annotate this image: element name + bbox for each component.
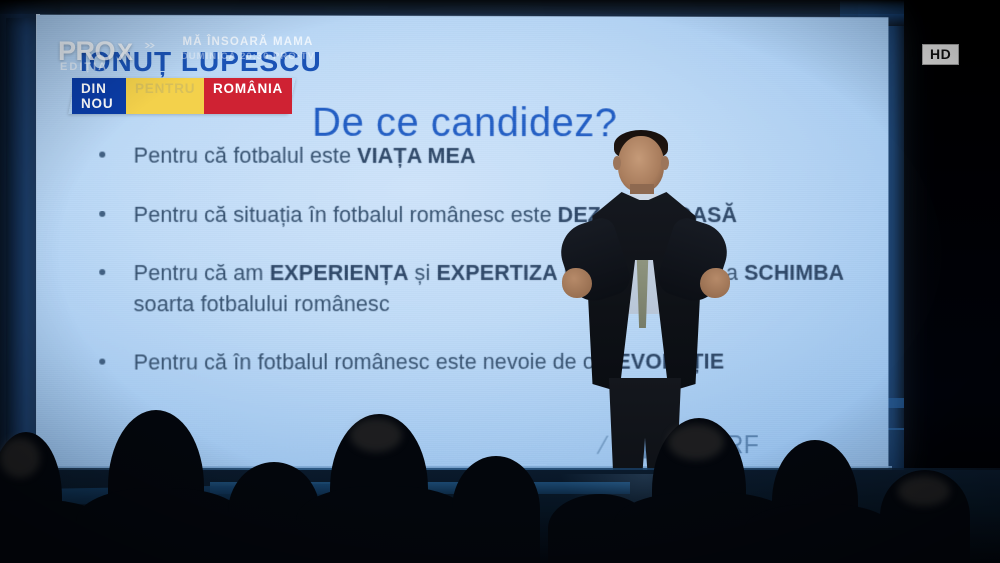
slide-bullet-text: Pentru că fotbalul este VIAȚA MEA <box>134 141 859 172</box>
speaker-ear-left <box>613 156 621 170</box>
slide-bullet-4: Pentru că în fotbalul românesc este nevo… <box>99 347 859 379</box>
bullet-marker-icon <box>99 269 105 275</box>
bullet-marker-icon <box>99 359 105 365</box>
audience-shoulders-2 <box>76 488 246 563</box>
hd-quality-badge: HD <box>922 44 959 65</box>
audience-shoulders-4 <box>296 486 472 563</box>
candidate-name: IONUȚ LUPESCU <box>80 46 322 78</box>
slide-bullet-text: Pentru că în fotbalul românesc este nevo… <box>134 347 859 379</box>
slide-bullet-text: Pentru că am EXPERIENȚA și EXPERTIZA nec… <box>134 258 859 319</box>
bullet-marker-icon <box>99 210 105 216</box>
audience-hair-highlight-4 <box>350 418 402 452</box>
speaker-ear-right <box>661 156 669 170</box>
slogan-part-pentru: PENTRU <box>126 78 204 114</box>
slide-bullet-2: Pentru că situația în fotbalul românesc … <box>99 199 859 230</box>
slide-bullet-list: Pentru că fotbalul este VIAȚA MEAPentru … <box>99 140 859 406</box>
speaker-hand-left <box>562 268 592 298</box>
audience-hair-highlight-1 <box>0 438 40 478</box>
audience-head-5 <box>452 456 540 563</box>
audience-shoulders-8 <box>744 504 894 563</box>
slogan-part-din-nou: DIN NOU <box>72 78 126 114</box>
slide-bullet-3: Pentru că am EXPERIENȚA și EXPERTIZA nec… <box>99 258 859 319</box>
broadcast-frame: De ce candidez? Pentru că fotbalul este … <box>0 0 1000 563</box>
bullet-marker-icon <box>99 152 105 158</box>
slide-bullet-text: Pentru că situația în fotbalul românesc … <box>134 199 859 230</box>
audience-hair-highlight-9 <box>898 476 950 506</box>
campaign-logo: IONUȚ LUPESCU DIN NOU PENTRU ROMÂNIA <box>52 30 292 108</box>
audience-hair-highlight-7 <box>668 424 724 460</box>
campaign-slogan-tricolor: DIN NOU PENTRU ROMÂNIA <box>68 78 296 114</box>
dark-ceiling-band <box>0 0 1000 14</box>
slogan-part-romania: ROMÂNIA <box>204 78 292 114</box>
speaker-hand-right <box>700 268 730 298</box>
slide-bullet-1: Pentru că fotbalul este VIAȚA MEA <box>99 140 859 171</box>
